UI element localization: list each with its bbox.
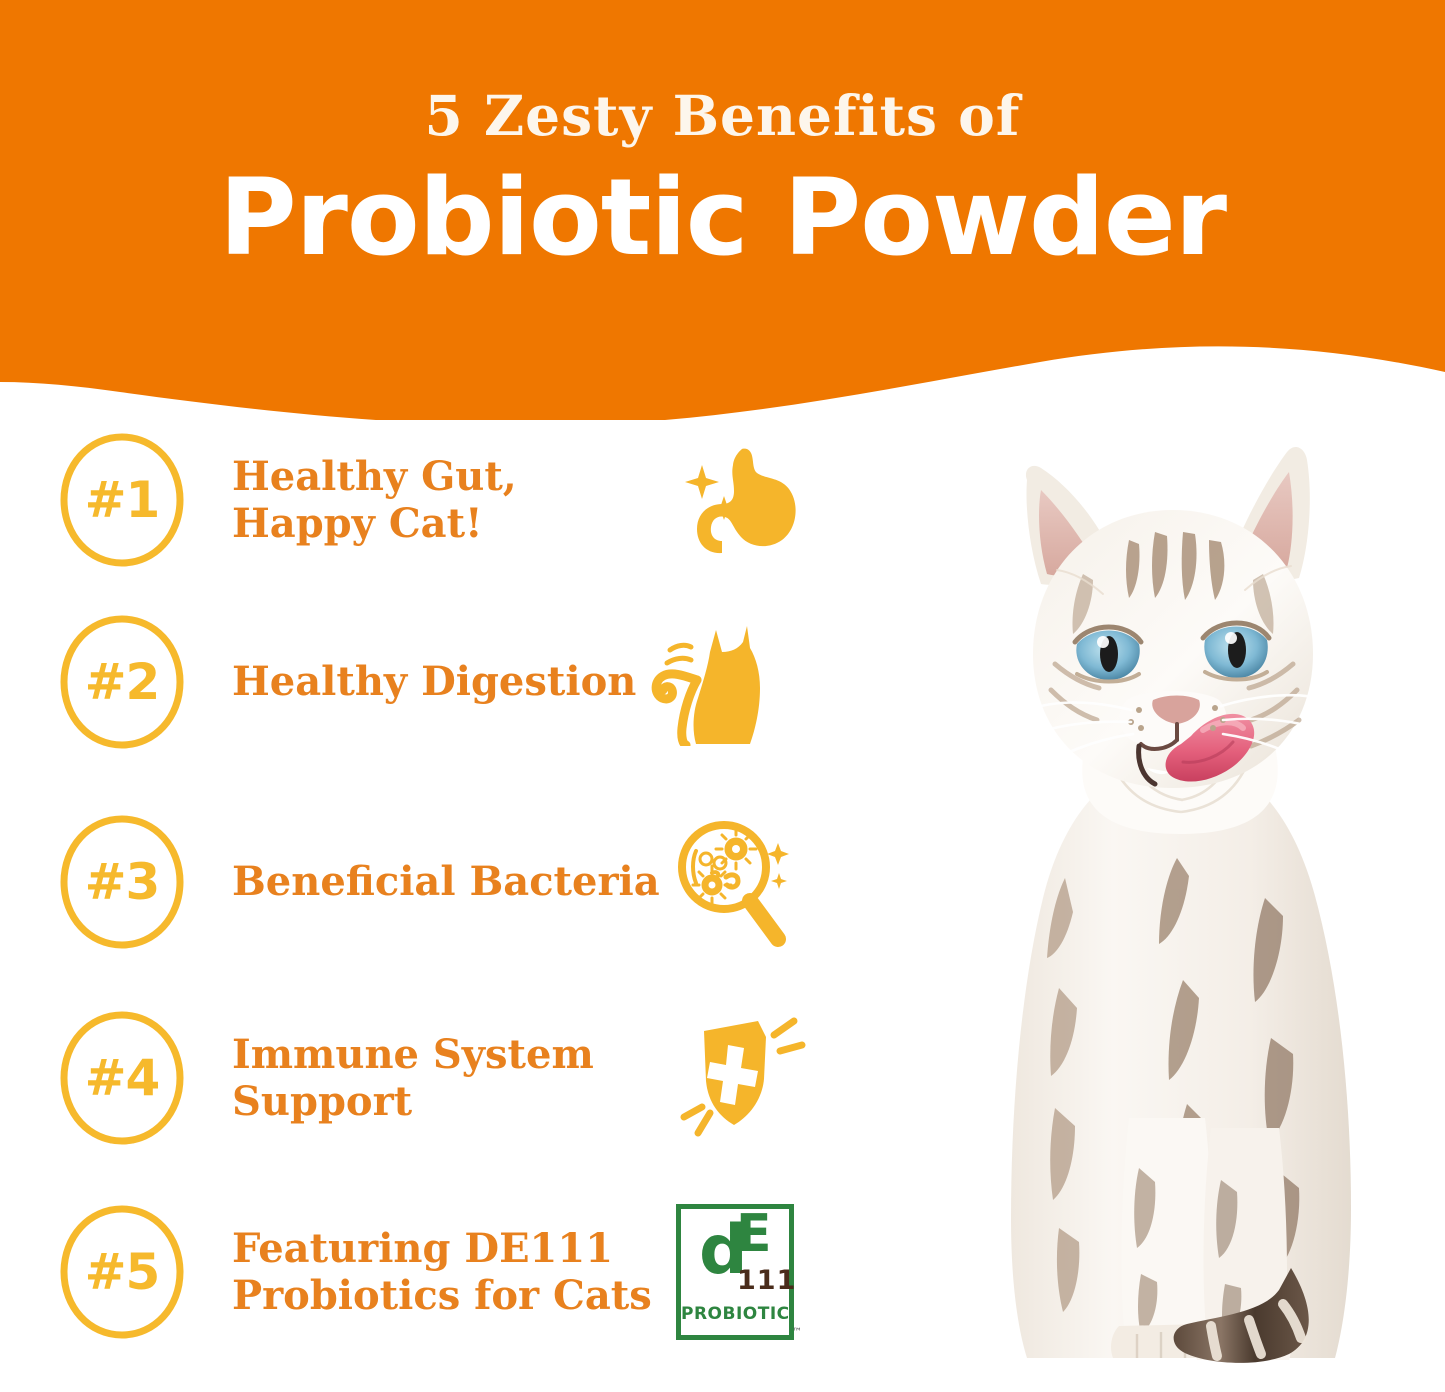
benefit-text-2: Healthy Digestion [232, 658, 636, 705]
badge-label-5: #5 [58, 1204, 186, 1340]
de111-trademark-symbol: ™ [792, 1327, 802, 1338]
de111-probiotic-logo: d E 111 PROBIOTIC ™ [676, 1204, 794, 1340]
de111-letter-e: E [736, 1213, 772, 1256]
stomach-sparkle-icon [676, 441, 806, 559]
badge-label-2: #2 [58, 614, 186, 750]
benefit-text-3: Beneficial Bacteria [232, 858, 660, 905]
benefit-item-5: #5 Featuring DE111 Probiotics for Cats d… [0, 1204, 900, 1340]
badge-number-1: #1 [58, 432, 186, 568]
benefit-item-1: #1 Healthy Gut, Happy Cat! [0, 432, 900, 568]
shield-plus-icon [676, 1015, 808, 1141]
benefit-item-3: #3 Beneficial Bacteria [0, 814, 900, 950]
benefit-text-5: Featuring DE111 Probiotics for Cats [232, 1225, 662, 1319]
cat-photo [915, 428, 1445, 1373]
badge-label-1: #1 [58, 432, 186, 568]
badge-label-3: #3 [58, 814, 186, 950]
badge-number-4: #4 [58, 1010, 186, 1146]
badge-number-5: #5 [58, 1204, 186, 1340]
benefit-text-1: Healthy Gut, Happy Cat! [232, 453, 662, 547]
sitting-cat-icon [650, 618, 772, 746]
infographic-page: 5 Zesty Benefits of Probiotic Powder #1 … [0, 0, 1445, 1392]
magnifying-glass-bacteria-icon [674, 815, 798, 949]
badge-number-3: #3 [58, 814, 186, 950]
badge-label-4: #4 [58, 1010, 186, 1146]
benefit-item-4: #4 Immune System Support [0, 1010, 900, 1146]
de111-number: 111 [737, 1267, 796, 1294]
benefit-text-4: Immune System Support [232, 1031, 662, 1125]
header-band: 5 Zesty Benefits of Probiotic Powder [0, 0, 1445, 420]
de111-logo-box: d E 111 PROBIOTIC ™ [676, 1204, 794, 1340]
header-wave-shape [0, 0, 1445, 420]
benefit-item-2: #2 Healthy Digestion [0, 614, 900, 750]
de111-word-probiotic: PROBIOTIC [681, 1304, 789, 1324]
badge-number-2: #2 [58, 614, 186, 750]
